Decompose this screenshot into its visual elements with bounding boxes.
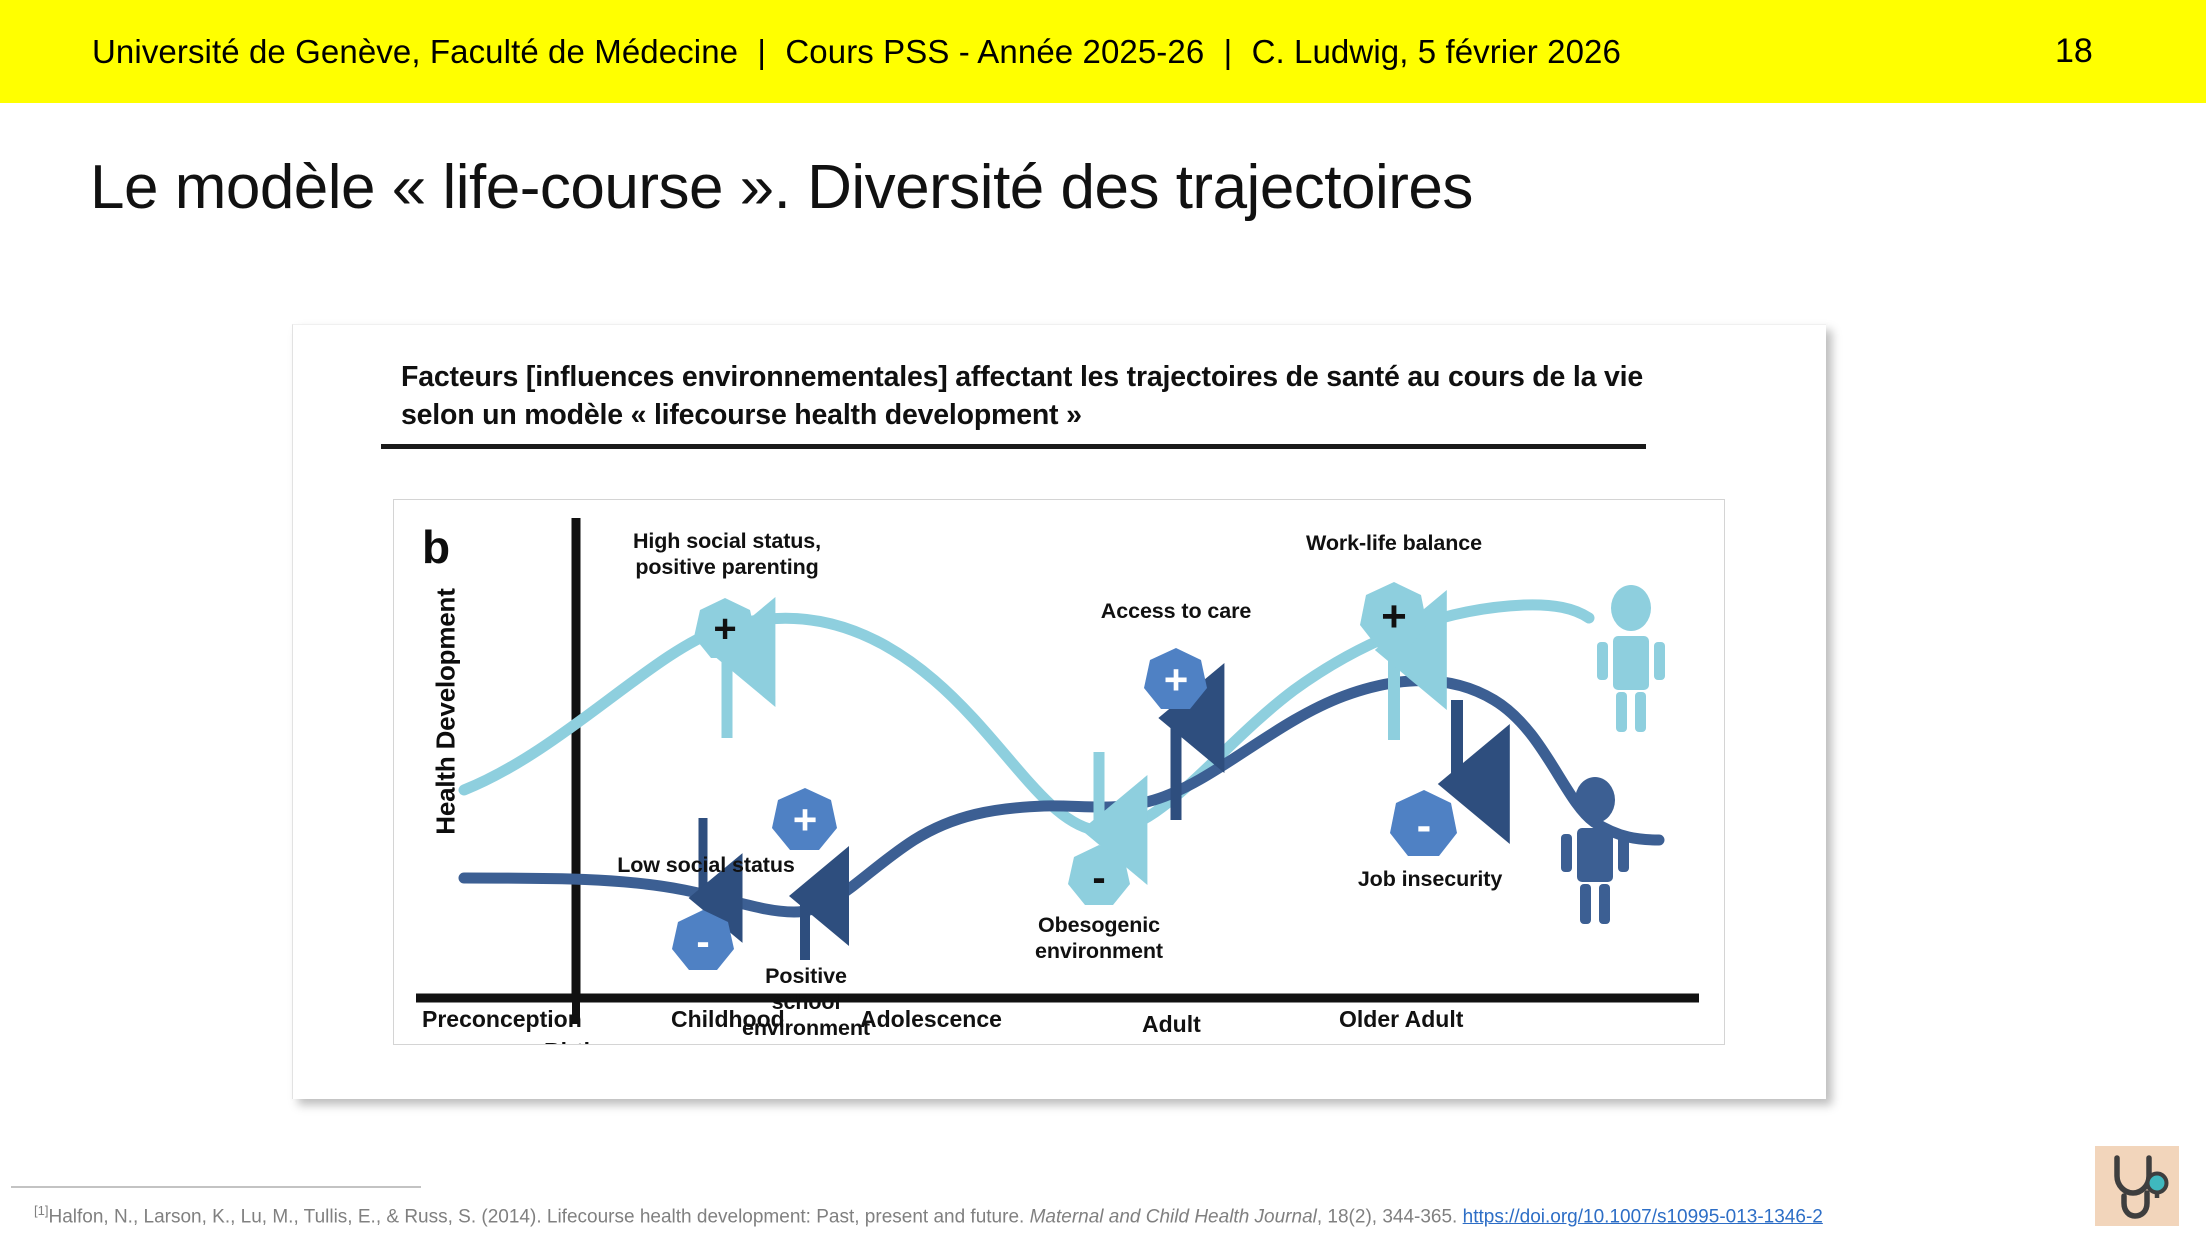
panel-letter: b: [422, 520, 450, 574]
header-separator-1: |: [747, 33, 776, 70]
low-social-status-badge: -: [672, 910, 734, 970]
footnote-journal: Maternal and Child Health Journal: [1030, 1206, 1317, 1227]
work-life-balance-badge: +: [1360, 582, 1427, 648]
svg-text:-: -: [1417, 801, 1432, 850]
header-author-date: C. Ludwig, 5 février 2026: [1252, 33, 1621, 70]
svg-text:+: +: [1164, 656, 1189, 703]
annotation-low-social-status: Low social status: [601, 852, 811, 878]
x-label-adolescence: Adolescence: [860, 1006, 1002, 1033]
x-label-preconception: Preconception: [422, 1006, 582, 1033]
chart-panel: + - + - +: [393, 499, 1725, 1045]
footnote-citation: [1]Halfon, N., Larson, K., Lu, M., Tulli…: [34, 1203, 1823, 1228]
obesogenic-environment-badge: -: [1068, 845, 1130, 905]
y-axis-label: Health Development: [431, 582, 462, 842]
footnote-marker: [1]: [34, 1203, 48, 1218]
annotation-access-to-care: Access to care: [1076, 598, 1276, 624]
access-to-care-badge: +: [1144, 648, 1207, 709]
person-advantaged-icon: [1597, 585, 1665, 732]
svg-text:+: +: [1381, 592, 1407, 641]
header-separator-2: |: [1214, 33, 1243, 70]
positive-school-environment-badge: +: [772, 788, 837, 850]
figure-caption: Facteurs [influences environnementales] …: [401, 358, 1721, 434]
footnote-authors: Halfon, N., Larson, K., Lu, M., Tullis, …: [48, 1206, 1024, 1227]
figure-card: Facteurs [influences environnementales] …: [292, 324, 1826, 1099]
caption-divider: [381, 444, 1646, 449]
annotation-job-insecurity: Job insecurity: [1330, 866, 1530, 892]
annotation-work-life-balance: Work-life balance: [1285, 530, 1503, 556]
header-breadcrumb: Université de Genève, Faculté de Médecin…: [92, 33, 1621, 71]
stethoscope-icon: [2095, 1146, 2179, 1226]
header-banner: Université de Genève, Faculté de Médecin…: [0, 0, 2206, 103]
svg-text:-: -: [1092, 856, 1105, 900]
footnote-doi-link[interactable]: https://doi.org/10.1007/s10995-013-1346-…: [1463, 1206, 1823, 1227]
x-label-older-adult: Older Adult: [1339, 1006, 1463, 1033]
x-label-childhood: Childhood: [671, 1006, 785, 1033]
header-course: Cours PSS - Année 2025-26: [785, 33, 1204, 70]
annotation-obesogenic-environment: Obesogenic environment: [1008, 912, 1190, 964]
job-insecurity-badge: -: [1390, 790, 1457, 856]
footnote-divider: [11, 1186, 421, 1188]
x-label-birth: Birth: [544, 1038, 598, 1045]
svg-text:+: +: [793, 796, 818, 843]
high-social-status-badge: +: [694, 598, 756, 658]
annotation-high-social-status: High social status, positive parenting: [612, 528, 842, 580]
stethoscope-logo: [2095, 1146, 2179, 1226]
x-label-adult: Adult: [1142, 1011, 1201, 1038]
svg-text:-: -: [696, 920, 709, 964]
header-institution: Université de Genève, Faculté de Médecin…: [92, 33, 738, 70]
footnote-volume-pages: , 18(2), 344-365.: [1317, 1206, 1457, 1227]
page-title: Le modèle « life-course ». Diversité des…: [90, 152, 1473, 223]
svg-text:+: +: [713, 607, 736, 651]
slide-number: 18: [2055, 32, 2093, 71]
